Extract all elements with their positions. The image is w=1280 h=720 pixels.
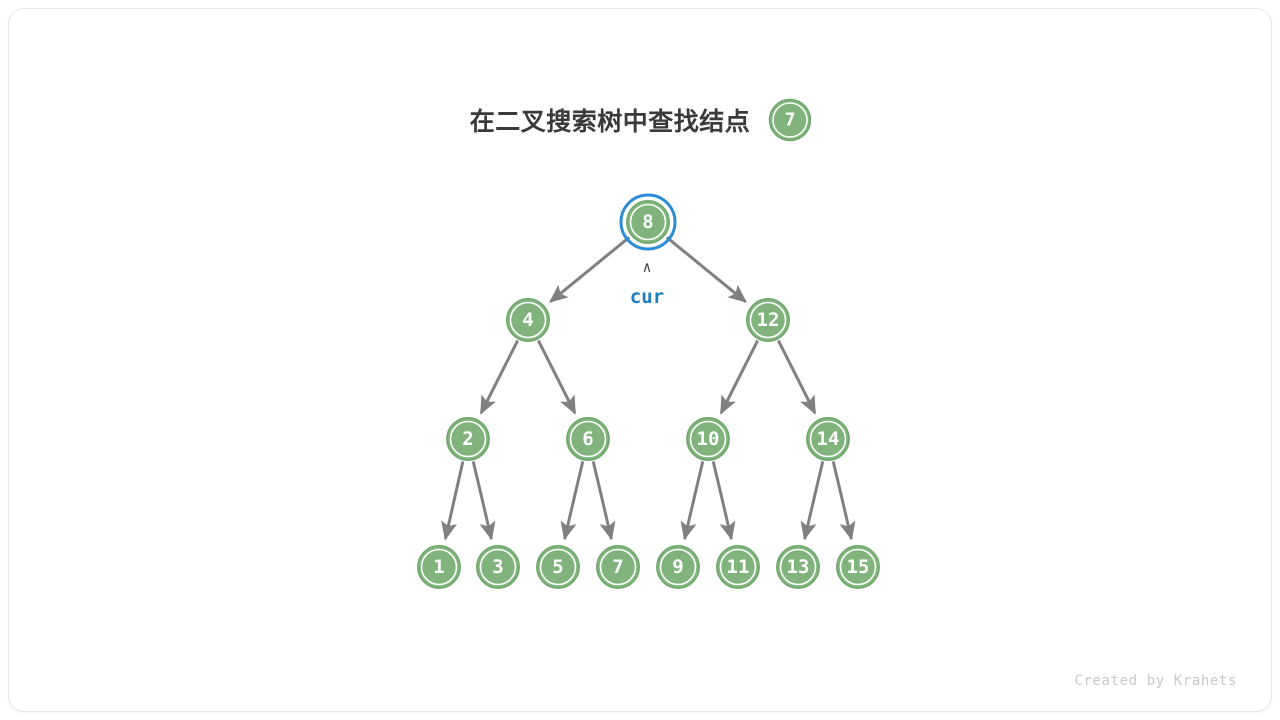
tree-edge xyxy=(778,341,815,414)
node-value: 15 xyxy=(847,556,870,578)
node-value: 3 xyxy=(492,556,503,578)
tree-node-6[interactable]: 6 xyxy=(567,418,609,460)
tree-node-2[interactable]: 2 xyxy=(447,418,489,460)
tree-edge xyxy=(473,461,491,538)
tree-node-9[interactable]: 9 xyxy=(657,546,699,588)
tree-edge xyxy=(593,461,611,538)
tree-node-1[interactable]: 1 xyxy=(418,546,460,588)
node-value: 5 xyxy=(552,556,563,578)
tree-node-14[interactable]: 14 xyxy=(807,418,849,460)
tree-node-11[interactable]: 11 xyxy=(717,546,759,588)
node-value: 12 xyxy=(757,309,780,331)
node-value: 1 xyxy=(433,556,444,578)
tree-node-12[interactable]: 12 xyxy=(747,299,789,341)
node-value: 11 xyxy=(727,556,750,578)
node-value: 7 xyxy=(612,556,623,578)
tree-edge xyxy=(713,461,731,538)
tree-node-3[interactable]: 3 xyxy=(477,546,519,588)
node-value: 14 xyxy=(817,428,840,450)
tree-node-10[interactable]: 10 xyxy=(687,418,729,460)
node-value: 4 xyxy=(522,309,533,331)
tree-edge xyxy=(481,341,518,414)
binary-search-tree-canvas: 841226101413579111315 ∧ cur xyxy=(9,9,1272,712)
tree-node-5[interactable]: 5 xyxy=(537,546,579,588)
tree-edge xyxy=(550,237,630,302)
tree-edge xyxy=(666,237,746,302)
tree-node-8[interactable]: 8 xyxy=(621,195,675,249)
node-value: 10 xyxy=(697,428,720,450)
node-value: 6 xyxy=(582,428,593,450)
tree-node-7[interactable]: 7 xyxy=(597,546,639,588)
tree-node-layer: 841226101413579111315 xyxy=(418,195,879,588)
diagram-card: 在二叉搜索树中查找结点 7 841226101413579111315 ∧ cu… xyxy=(8,8,1272,712)
footer-credit: Created by Krahets xyxy=(1074,673,1237,689)
tree-node-4[interactable]: 4 xyxy=(507,299,549,341)
tree-edge xyxy=(445,461,463,538)
tree-node-13[interactable]: 13 xyxy=(777,546,819,588)
tree-edge xyxy=(805,461,823,538)
pointer-caret-icon: ∧ xyxy=(642,258,651,276)
node-value: 8 xyxy=(642,211,653,233)
tree-edge xyxy=(565,461,583,538)
tree-edge xyxy=(721,341,758,414)
node-value: 9 xyxy=(672,556,683,578)
diagram-page: 在二叉搜索树中查找结点 7 841226101413579111315 ∧ cu… xyxy=(0,0,1280,720)
tree-edge xyxy=(538,341,575,414)
pointer-layer: ∧ cur xyxy=(630,258,664,308)
tree-edge xyxy=(685,461,703,538)
tree-edge-layer xyxy=(445,237,851,539)
node-value: 2 xyxy=(462,428,473,450)
pointer-label-cur: cur xyxy=(630,286,664,308)
tree-edge xyxy=(833,461,851,538)
tree-node-15[interactable]: 15 xyxy=(837,546,879,588)
node-value: 13 xyxy=(787,556,810,578)
